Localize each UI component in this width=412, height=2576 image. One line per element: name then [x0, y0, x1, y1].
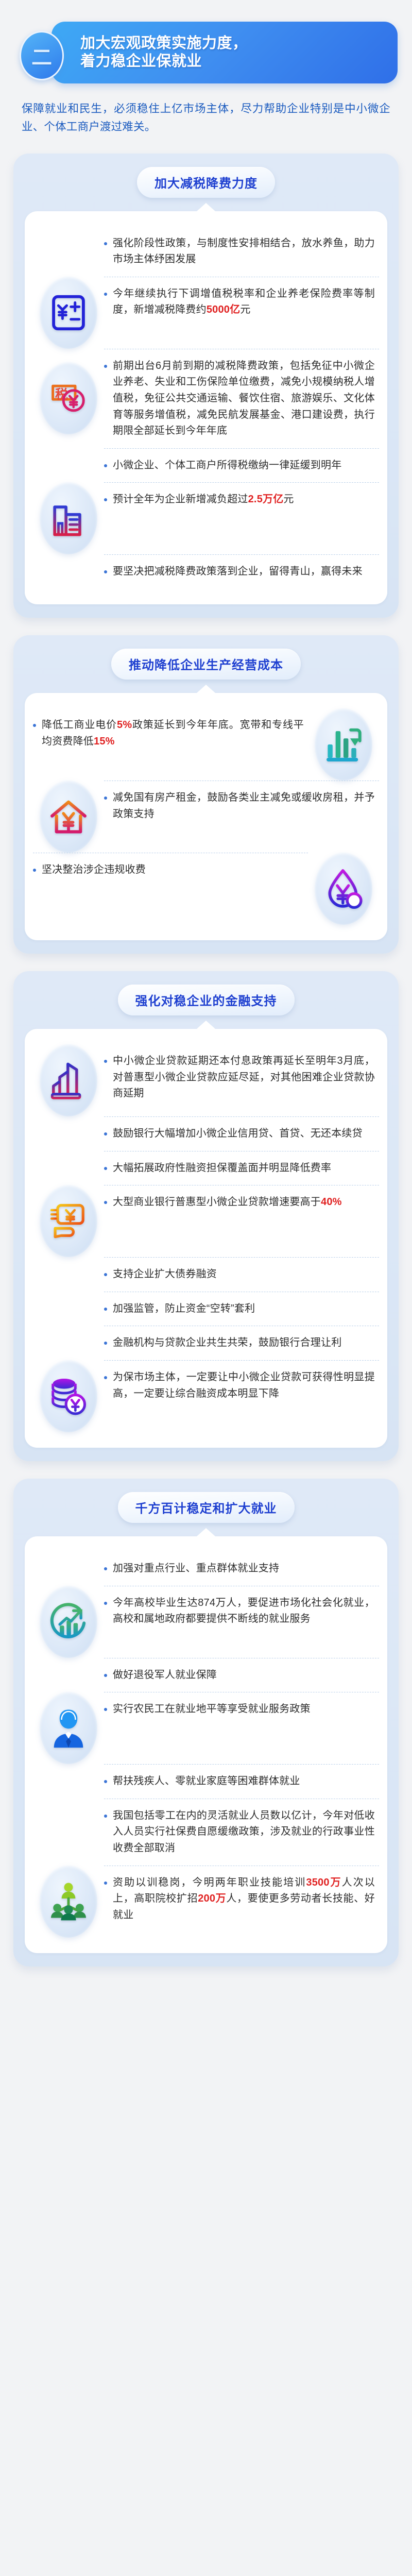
bullet-cell: 加强监管，防止资金“空转”套利 — [104, 1292, 379, 1326]
highlight-number: 40% — [321, 1196, 342, 1208]
bullet-text-run: 元 — [240, 304, 250, 315]
section-body: 降低工商业电价5%政策延长到今年年底。宽带和专线平均资费降低15% 减免国有房产… — [25, 693, 387, 940]
bullet-text-slot: 为保市场主体，一定要让中小微企业贷款可获得性明显提高，一定要让综合融资成本明显下… — [104, 1360, 379, 1411]
bullet-icon-slot — [33, 1586, 104, 1658]
bullet-row: 加强对重点行业、重点群体就业支持 — [33, 1552, 379, 1586]
bullet-icon-slot — [33, 1044, 104, 1116]
bullet-list: 中小微企业贷款延期还本付息政策再延长至明年3月底，对普惠型小微企业贷款应延尽延，… — [33, 1044, 379, 1432]
bullet-icon-slot — [308, 853, 379, 925]
bullet-icon-slot — [33, 1866, 104, 1938]
house-yuan-icon — [40, 781, 97, 853]
wallet-hand-icon — [40, 1185, 97, 1257]
bullet-cell: 大幅拓展政府性融资担保覆盖面并明显降低费率 — [104, 1151, 379, 1185]
bullet-dot-icon — [104, 1060, 107, 1063]
bullet-dot-icon — [104, 242, 107, 245]
bullet-dot-icon — [104, 1674, 107, 1677]
bullet-icon-slot — [33, 277, 104, 349]
bullet-cell: 为保市场主体，一定要让中小微企业贷款可获得性明显提高，一定要让综合融资成本明显下… — [104, 1360, 379, 1411]
section-card: 强化对稳企业的金融支持 中小微企业贷款延期还本付息政策再延长至明年3月底，对普惠… — [13, 971, 399, 1461]
bullet-row: 税 前期出台6月前到期的减税降费政策，包括免征中小微企业养老、失业和工伤保险单位… — [33, 349, 379, 448]
bullet-list: 降低工商业电价5%政策延长到今年年底。宽带和专线平均资费降低15% 减免国有房产… — [33, 708, 379, 925]
bullet-text-run: 减免国有房产租金，鼓励各类业主减免或缓收房租，并予政策支持 — [113, 792, 375, 820]
bullet-cell: 鼓励银行大幅增加小微企业信用贷、首贷、无还本续贷 — [104, 1116, 379, 1151]
header-banner: 加大宏观政策实施力度， 着力稳企业保就业 — [51, 22, 398, 83]
bullet-text-slot: 降低工商业电价5%政策延长到今年年底。宽带和专线平均资费降低15% — [33, 708, 308, 758]
bullet-text: 预计全年为企业新增减负超过2.5万亿元 — [113, 492, 294, 508]
bullet-cell: 强化阶段性政策，与制度性安排相结合，放水养鱼，助力市场主体纾困发展 — [104, 227, 379, 277]
bullet-text-run: 大型商业银行普惠型小微企业贷款增速要高于 — [113, 1196, 321, 1208]
calculator-yuan-icon — [40, 277, 97, 349]
bullet-dot-icon — [104, 1342, 107, 1345]
bullet-text-slot: 坚决整治涉企违规收费 — [33, 853, 308, 887]
bullet-row: 鼓励银行大幅增加小微企业信用贷、首贷、无还本续贷 — [33, 1116, 379, 1151]
coins-yuan-icon — [40, 1360, 97, 1432]
bullet-cell: 帮扶残疾人、零就业家庭等困难群体就业 — [104, 1764, 379, 1799]
section-title-pill: 千方百计稳定和扩大就业 — [118, 1492, 295, 1523]
growth-chart-icon — [40, 1586, 97, 1658]
bullet-text-run: 今年高校毕业生达874万人，要促进市场化社会化就业，高校和属地政府都要提供不断线… — [113, 1597, 375, 1625]
page-title: 加大宏观政策实施力度， 着力稳企业保就业 — [80, 35, 248, 71]
section-body: 加强对重点行业、重点群体就业支持 今年高校毕业生达874万人，要促进市场化社会化… — [25, 1536, 387, 1953]
city-buildings-icon — [40, 1044, 97, 1116]
highlight-number: 15% — [94, 736, 115, 747]
bullet-text: 为保市场主体，一定要让中小微企业贷款可获得性明显提高，一定要让综合融资成本明显下… — [113, 1369, 375, 1402]
bullet-text-slot: 帮扶残疾人、零就业家庭等困难群体就业 — [104, 1764, 379, 1799]
people-group-icon — [40, 1866, 97, 1938]
bullet-dot-icon — [104, 1815, 107, 1818]
bullet-icon-slot — [33, 482, 104, 554]
bullet-cell: 资助以训稳岗，今明两年职业技能培训3500万人次以上，高职院校扩招200万人，要… — [104, 1866, 379, 1933]
bullet-dot-icon — [104, 498, 107, 501]
page-header: 加大宏观政策实施力度， 着力稳企业保就业 二 — [0, 0, 412, 93]
bullet-text-run: 前期出台6月前到期的减税降费政策，包括免征中小微企业养老、失业和工伤保险单位缴费… — [113, 360, 375, 436]
highlight-number: 200万 — [198, 1893, 226, 1904]
bullet-cell: 大型商业银行普惠型小微企业贷款增速要高于40% — [104, 1185, 379, 1219]
section-card: 千方百计稳定和扩大就业加强对重点行业、重点群体就业支持 今年高校毕业生达874万… — [13, 1479, 399, 1967]
bullet-cell: 坚决整治涉企违规收费 — [33, 853, 308, 887]
bullet-row: 资助以训稳岗，今明两年职业技能培训3500万人次以上，高职院校扩招200万人，要… — [33, 1866, 379, 1938]
bullet-text: 做好退役军人就业保障 — [113, 1667, 217, 1684]
bullet-cell: 要坚决把减税降费政策落到企业，留得青山，赢得未来 — [104, 554, 379, 589]
section-card: 加大减税降费力度强化阶段性政策，与制度性安排相结合，放水养鱼，助力市场主体纾困发… — [13, 154, 399, 618]
bullet-text-slot: 大型商业银行普惠型小微企业贷款增速要高于40% — [104, 1185, 379, 1219]
bullet-text: 前期出台6月前到期的减税降费政策，包括免征中小微企业养老、失业和工伤保险单位缴费… — [113, 358, 375, 439]
bullet-text-run: 预计全年为企业新增减负超过 — [113, 494, 248, 505]
speech-notch — [197, 1528, 215, 1536]
bullet-text-slot: 预计全年为企业新增减负超过2.5万亿元 — [104, 482, 379, 517]
bullet-cell: 实行农民工在就业地平等享受就业服务政策 — [104, 1692, 379, 1726]
bullet-text: 强化阶段性政策，与制度性安排相结合，放水养鱼，助力市场主体纾困发展 — [113, 235, 375, 268]
bullet-dot-icon — [104, 1602, 107, 1605]
bullet-text-slot: 今年继续执行下调增值税税率和企业养老保险费率等制度，新增减税降费约5000亿元 — [104, 277, 379, 327]
bullet-cell: 我国包括零工在内的灵活就业人员数以亿计，今年对低收入人员实行社保费自愿缓缴政策，… — [104, 1799, 379, 1866]
bullet-text-run: 我国包括零工在内的灵活就业人员数以亿计，今年对低收入人员实行社保费自愿缓缴政策，… — [113, 1810, 375, 1854]
section-number-badge: 二 — [20, 31, 64, 80]
bullet-row: 小微企业、个体工商户所得税缴纳一律延缓到明年 — [33, 448, 379, 483]
bullet-text-run: 中小微企业贷款延期还本付息政策再延长至明年3月底，对普惠型小微企业贷款应延尽延，… — [113, 1055, 375, 1099]
bar-chart-down-icon — [315, 708, 372, 781]
bullet-text-run: 支持企业扩大债券融资 — [113, 1268, 217, 1280]
bullet-icon-slot: 税 — [33, 362, 104, 434]
bullet-row: 预计全年为企业新增减负超过2.5万亿元 — [33, 482, 379, 554]
bullet-row: 加强监管，防止资金“空转”套利 — [33, 1292, 379, 1326]
bullet-dot-icon — [104, 1376, 107, 1379]
speech-notch — [197, 685, 215, 693]
bullet-cell: 加强对重点行业、重点群体就业支持 — [104, 1552, 379, 1586]
bullet-list: 强化阶段性政策，与制度性安排相结合，放水养鱼，助力市场主体纾困发展 今年继续执行… — [33, 227, 379, 589]
bullet-dot-icon — [104, 1308, 107, 1311]
highlight-number: 5000亿 — [207, 304, 241, 315]
bullet-row: 帮扶残疾人、零就业家庭等困难群体就业 — [33, 1764, 379, 1799]
bullet-row: 做好退役军人就业保障 — [33, 1658, 379, 1692]
bullet-cell: 预计全年为企业新增减负超过2.5万亿元 — [104, 482, 379, 517]
bullet-text-slot: 中小微企业贷款延期还本付息政策再延长至明年3月底，对普惠型小微企业贷款应延尽延，… — [104, 1044, 379, 1111]
tax-document-icon: 税 — [40, 362, 97, 434]
bullet-text: 今年高校毕业生达874万人，要促进市场化社会化就业，高校和属地政府都要提供不断线… — [113, 1595, 375, 1628]
bullet-text: 资助以训稳岗，今明两年职业技能培训3500万人次以上，高职院校扩招200万人，要… — [113, 1875, 375, 1924]
bullet-row: 坚决整治涉企违规收费 — [33, 853, 379, 925]
section-title-label: 加大减税降费力度 — [154, 177, 257, 191]
speech-notch — [197, 203, 215, 211]
bullet-text-run: 小微企业、个体工商户所得税缴纳一律延缓到明年 — [113, 460, 341, 471]
bullet-row: 强化阶段性政策，与制度性安排相结合，放水养鱼，助力市场主体纾困发展 — [33, 227, 379, 277]
bullet-dot-icon — [33, 869, 36, 872]
bullet-row: 支持企业扩大债券融资 — [33, 1257, 379, 1292]
bullet-text: 实行农民工在就业地平等享受就业服务政策 — [113, 1701, 311, 1718]
bullet-text-slot: 鼓励银行大幅增加小微企业信用贷、首贷、无还本续贷 — [104, 1116, 379, 1151]
bullet-text: 帮扶残疾人、零就业家庭等困难群体就业 — [113, 1773, 300, 1790]
bullet-text: 鼓励银行大幅增加小微企业信用贷、首贷、无还本续贷 — [113, 1126, 363, 1142]
bullet-text: 大型商业银行普惠型小微企业贷款增速要高于40% — [113, 1194, 342, 1211]
bullet-text: 要坚决把减税降费政策落到企业，留得青山，赢得未来 — [113, 564, 363, 580]
bullet-list: 加强对重点行业、重点群体就业支持 今年高校毕业生达874万人，要促进市场化社会化… — [33, 1552, 379, 1938]
speech-notch — [197, 1021, 215, 1029]
bullet-dot-icon — [104, 1132, 107, 1136]
bullet-dot-icon — [104, 1167, 107, 1170]
section-title-label: 千方百计稳定和扩大就业 — [135, 1502, 277, 1516]
bullet-text-run: 鼓励银行大幅增加小微企业信用贷、首贷、无还本续贷 — [113, 1128, 363, 1139]
bullet-cell: 支持企业扩大债券融资 — [104, 1257, 379, 1292]
bullet-text-slot: 要坚决把减税降费政策落到企业，留得青山，赢得未来 — [104, 554, 379, 589]
section-title-pill: 推动降低企业生产经营成本 — [111, 649, 301, 680]
bullet-dot-icon — [104, 1273, 107, 1276]
bullet-cell: 金融机构与贷款企业共生共荣，鼓励银行合理让利 — [104, 1326, 379, 1360]
bullet-row: 金融机构与贷款企业共生共荣，鼓励银行合理让利 — [33, 1326, 379, 1360]
bullet-text-run: 加强对重点行业、重点群体就业支持 — [113, 1563, 279, 1574]
buildings-icon — [40, 482, 97, 554]
bullet-text: 小微企业、个体工商户所得税缴纳一律延缓到明年 — [113, 457, 341, 474]
section-title-pill: 强化对稳企业的金融支持 — [118, 985, 295, 1015]
bullet-icon-slot — [33, 781, 104, 853]
bullet-row: 实行农民工在就业地平等享受就业服务政策 — [33, 1692, 379, 1764]
bullet-text-run: 元 — [283, 494, 294, 505]
bullet-icon-slot — [308, 708, 379, 781]
bullet-dot-icon — [104, 1780, 107, 1783]
bullet-cell: 降低工商业电价5%政策延长到今年年底。宽带和专线平均资费降低15% — [33, 708, 308, 758]
bullet-text-run: 坚决整治涉企违规收费 — [42, 864, 146, 875]
bullet-text: 金融机构与贷款企业共生共荣，鼓励银行合理让利 — [113, 1335, 341, 1351]
bullet-text-run: 降低工商业电价 — [42, 719, 117, 731]
bullet-cell: 前期出台6月前到期的减税降费政策，包括免征中小微企业养老、失业和工伤保险单位缴费… — [104, 349, 379, 448]
bullet-dot-icon — [104, 1567, 107, 1570]
bullet-cell: 今年高校毕业生达874万人，要促进市场化社会化就业，高校和属地政府都要提供不断线… — [104, 1586, 379, 1636]
bullet-row: 大型商业银行普惠型小微企业贷款增速要高于40% — [33, 1185, 379, 1257]
bullet-row: 中小微企业贷款延期还本付息政策再延长至明年3月底，对普惠型小微企业贷款应延尽延，… — [33, 1044, 379, 1116]
bullet-dot-icon — [33, 724, 36, 727]
bullet-cell: 做好退役军人就业保障 — [104, 1658, 379, 1692]
bullet-text: 今年继续执行下调增值税税率和企业养老保险费率等制度，新增减税降费约5000亿元 — [113, 286, 375, 318]
highlight-number: 2.5万亿 — [248, 494, 284, 505]
bullet-row: 降低工商业电价5%政策延长到今年年底。宽带和专线平均资费降低15% — [33, 708, 379, 781]
bullet-dot-icon — [104, 293, 107, 296]
bullet-text: 加强对重点行业、重点群体就业支持 — [113, 1561, 279, 1577]
bullet-row: 大幅拓展政府性融资担保覆盖面并明显降低费率 — [33, 1151, 379, 1185]
bullet-text: 中小微企业贷款延期还本付息政策再延长至明年3月底，对普惠型小微企业贷款应延尽延，… — [113, 1053, 375, 1102]
bullet-row: 要坚决把减税降费政策落到企业，留得青山，赢得未来 — [33, 554, 379, 589]
bullet-row: 今年继续执行下调增值税税率和企业养老保险费率等制度，新增减税降费约5000亿元 — [33, 277, 379, 349]
bullet-icon-slot — [33, 1185, 104, 1257]
bullet-text-run: 要坚决把减税降费政策落到企业，留得青山，赢得未来 — [113, 566, 363, 577]
section-title-label: 强化对稳企业的金融支持 — [135, 995, 277, 1008]
bullet-row: 今年高校毕业生达874万人，要促进市场化社会化就业，高校和属地政府都要提供不断线… — [33, 1586, 379, 1658]
bullet-text-run: 做好退役军人就业保障 — [113, 1669, 217, 1681]
highlight-number: 3500万 — [306, 1877, 341, 1888]
bullet-text: 大幅拓展政府性融资担保覆盖面并明显降低费率 — [113, 1160, 331, 1177]
bullet-dot-icon — [104, 1708, 107, 1711]
bullet-text-slot: 加强对重点行业、重点群体就业支持 — [104, 1552, 379, 1586]
bullet-text-run: 强化阶段性政策，与制度性安排相结合，放水养鱼，助力市场主体纾困发展 — [113, 238, 375, 265]
bullet-dot-icon — [104, 796, 107, 800]
bullet-cell: 小微企业、个体工商户所得税缴纳一律延缓到明年 — [104, 448, 379, 483]
bullet-text-slot: 实行农民工在就业地平等享受就业服务政策 — [104, 1692, 379, 1726]
bullet-dot-icon — [104, 1201, 107, 1204]
section-number-label: 二 — [31, 41, 52, 71]
bullet-text-slot: 我国包括零工在内的灵活就业人员数以亿计，今年对低收入人员实行社保费自愿缓缴政策，… — [104, 1799, 379, 1866]
bullet-icon-slot — [33, 1692, 104, 1764]
bullet-text: 支持企业扩大债券融资 — [113, 1266, 217, 1283]
bullet-text: 降低工商业电价5%政策延长到今年年底。宽带和专线平均资费降低15% — [42, 717, 304, 750]
bullet-text-run: 金融机构与贷款企业共生共荣，鼓励银行合理让利 — [113, 1337, 341, 1348]
highlight-number: 5% — [117, 719, 132, 731]
bullet-text-run: 大幅拓展政府性融资担保覆盖面并明显降低费率 — [113, 1162, 331, 1174]
bullet-text-slot: 大幅拓展政府性融资担保覆盖面并明显降低费率 — [104, 1151, 379, 1185]
bullet-dot-icon — [104, 464, 107, 467]
bullet-text-run: 帮扶残疾人、零就业家庭等困难群体就业 — [113, 1775, 300, 1787]
section-body: 中小微企业贷款延期还本付息政策再延长至明年3月底，对普惠型小微企业贷款应延尽延，… — [25, 1029, 387, 1448]
bullet-text: 我国包括零工在内的灵活就业人员数以亿计，今年对低收入人员实行社保费自愿缓缴政策，… — [113, 1808, 375, 1857]
bullet-cell: 中小微企业贷款延期还本付息政策再延长至明年3月底，对普惠型小微企业贷款应延尽延，… — [104, 1044, 379, 1111]
bullet-text-slot: 加强监管，防止资金“空转”套利 — [104, 1292, 379, 1326]
section-body: 强化阶段性政策，与制度性安排相结合，放水养鱼，助力市场主体纾困发展 今年继续执行… — [25, 211, 387, 604]
bullet-row: 为保市场主体，一定要让中小微企业贷款可获得性明显提高，一定要让综合融资成本明显下… — [33, 1360, 379, 1432]
bullet-text-slot: 小微企业、个体工商户所得税缴纳一律延缓到明年 — [104, 448, 379, 483]
sections-container: 加大减税降费力度强化阶段性政策，与制度性安排相结合，放水养鱼，助力市场主体纾困发… — [0, 154, 412, 1967]
bullet-text-slot: 减免国有房产租金，鼓励各类业主减免或缓收房租，并予政策支持 — [104, 781, 379, 831]
bullet-text-run: 实行农民工在就业地平等享受就业服务政策 — [113, 1703, 311, 1715]
bullet-row: 我国包括零工在内的灵活就业人员数以亿计，今年对低收入人员实行社保费自愿缓缴政策，… — [33, 1799, 379, 1866]
bullet-text-slot: 金融机构与贷款企业共生共荣，鼓励银行合理让利 — [104, 1326, 379, 1360]
section-title-label: 推动降低企业生产经营成本 — [129, 659, 283, 672]
bullet-cell: 今年继续执行下调增值税税率和企业养老保险费率等制度，新增减税降费约5000亿元 — [104, 277, 379, 327]
bullet-dot-icon — [104, 570, 107, 573]
bullet-text-slot: 今年高校毕业生达874万人，要促进市场化社会化就业，高校和属地政府都要提供不断线… — [104, 1586, 379, 1636]
person-suit-icon — [40, 1692, 97, 1764]
bullet-dot-icon — [104, 365, 107, 368]
bullet-dot-icon — [104, 1882, 107, 1885]
bullet-icon-slot — [33, 1360, 104, 1432]
bullet-text-run: 加强监管，防止资金“空转”套利 — [113, 1303, 255, 1314]
bullet-text-slot: 支持企业扩大债券融资 — [104, 1257, 379, 1292]
bullet-text-slot: 强化阶段性政策，与制度性安排相结合，放水养鱼，助力市场主体纾困发展 — [104, 227, 379, 277]
bullet-cell: 减免国有房产租金，鼓励各类业主减免或缓收房租，并予政策支持 — [104, 781, 379, 831]
bullet-text: 加强监管，防止资金“空转”套利 — [113, 1301, 255, 1317]
bullet-text: 减免国有房产租金，鼓励各类业主减免或缓收房租，并予政策支持 — [113, 790, 375, 822]
droplet-yuan-minus-icon — [315, 853, 372, 925]
bullet-text-slot: 资助以训稳岗，今明两年职业技能培训3500万人次以上，高职院校扩招200万人，要… — [104, 1866, 379, 1933]
bullet-row: 减免国有房产租金，鼓励各类业主减免或缓收房租，并予政策支持 — [33, 781, 379, 853]
intro-paragraph: 保障就业和民生，必须稳住上亿市场主体，尽力帮助企业特别是中小微企业、个体工商户渡… — [22, 100, 390, 136]
bullet-text-slot: 做好退役军人就业保障 — [104, 1658, 379, 1692]
bullet-text-slot: 前期出台6月前到期的减税降费政策，包括免征中小微企业养老、失业和工伤保险单位缴费… — [104, 349, 379, 448]
section-card: 推动降低企业生产经营成本 降低工商业电价5%政策延长到今年年底。宽带和专线平均资… — [13, 635, 399, 954]
bullet-text-run: 资助以训稳岗，今明两年职业技能培训 — [113, 1877, 306, 1888]
bullet-text-run: 为保市场主体，一定要让中小微企业贷款可获得性明显提高，一定要让综合融资成本明显下… — [113, 1371, 375, 1399]
section-title-pill: 加大减税降费力度 — [137, 167, 275, 198]
bullet-text: 坚决整治涉企违规收费 — [42, 862, 146, 878]
